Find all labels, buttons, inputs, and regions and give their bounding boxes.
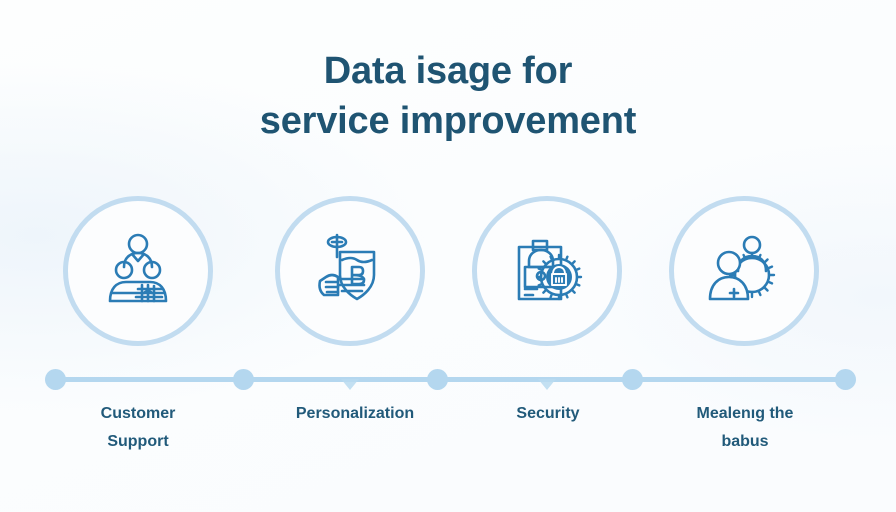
- timeline: [0, 362, 896, 396]
- timeline-dot[interactable]: [427, 369, 448, 390]
- step-label-line-1: Customer: [101, 405, 176, 422]
- step-label-personalization: Personalization: [260, 400, 450, 428]
- title-line-2: service improvement: [0, 96, 896, 146]
- infographic-slide: Data isage for service improvement: [0, 0, 896, 512]
- title-line-1: Data isage for: [0, 46, 896, 96]
- step-label-line-1: Mealenıg the: [697, 405, 794, 422]
- step-circle-personalization[interactable]: [275, 196, 425, 346]
- timeline-dot[interactable]: [233, 369, 254, 390]
- timeline-marker: [341, 379, 359, 390]
- step-label-line-1: Security: [516, 405, 579, 422]
- step-label-customer-support: Customer Support: [43, 400, 233, 456]
- icon-circles-row: [0, 196, 896, 346]
- step-label-line-1: Personalization: [296, 405, 414, 422]
- step-label-line-2: Support: [43, 428, 233, 456]
- step-circle-security[interactable]: [472, 196, 622, 346]
- timeline-dot[interactable]: [45, 369, 66, 390]
- timeline-line: [48, 377, 848, 382]
- step-label-meeting-needs: Mealenıg the babus: [650, 400, 840, 456]
- shield-hand-document-icon: [306, 227, 394, 315]
- timeline-dot[interactable]: [622, 369, 643, 390]
- people-gear-icon: [700, 227, 788, 315]
- step-circle-customer-support[interactable]: [63, 196, 213, 346]
- timeline-dot[interactable]: [835, 369, 856, 390]
- step-label-security: Security: [453, 400, 643, 428]
- timeline-marker: [538, 379, 556, 390]
- step-circle-meeting-needs[interactable]: [669, 196, 819, 346]
- clipboard-lock-gear-icon: [503, 227, 591, 315]
- step-labels-row: Customer Support Personalization Securit…: [0, 400, 896, 480]
- step-label-line-2: babus: [650, 428, 840, 456]
- page-title: Data isage for service improvement: [0, 46, 896, 146]
- people-group-icon: [94, 227, 182, 315]
